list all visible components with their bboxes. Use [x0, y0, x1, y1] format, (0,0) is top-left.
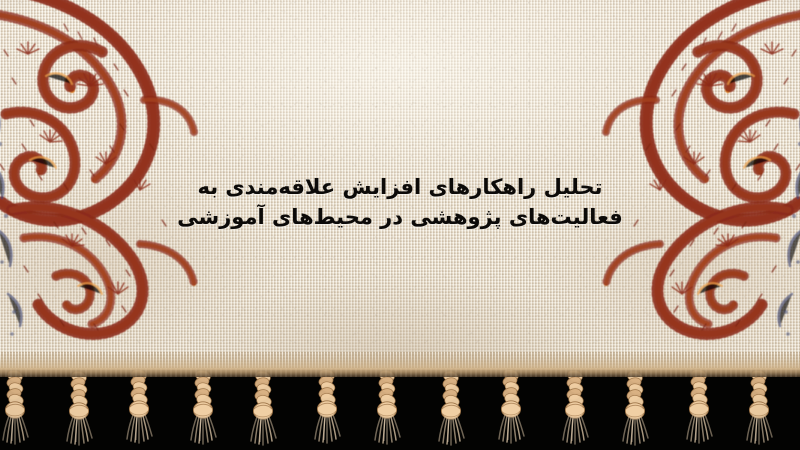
- fringe-backdrop: [0, 370, 800, 450]
- tassel: [116, 369, 162, 447]
- title-card-canvas: تحلیل راهکارهای افزایش علاقه‌مندی به فعا…: [0, 0, 800, 450]
- tassel: [180, 370, 226, 448]
- tassel: [736, 370, 782, 448]
- title-line-1: تحلیل راهکارهای افزایش علاقه‌مندی به: [0, 172, 800, 202]
- tassel: [552, 370, 598, 448]
- tassel: [56, 371, 102, 449]
- tassel: [364, 370, 410, 448]
- tassel: [488, 369, 534, 447]
- tassel: [428, 371, 474, 449]
- tassel: [304, 369, 350, 447]
- title-line-2: فعالیت‌های پژوهشی در محیط‌های آموزشی: [0, 202, 800, 232]
- tassel: [240, 371, 286, 449]
- tassel: [676, 369, 722, 447]
- tassel: [612, 371, 658, 449]
- tassel-row: [0, 370, 800, 450]
- tassel: [0, 370, 38, 448]
- title-block: تحلیل راهکارهای افزایش علاقه‌مندی به فعا…: [0, 172, 800, 232]
